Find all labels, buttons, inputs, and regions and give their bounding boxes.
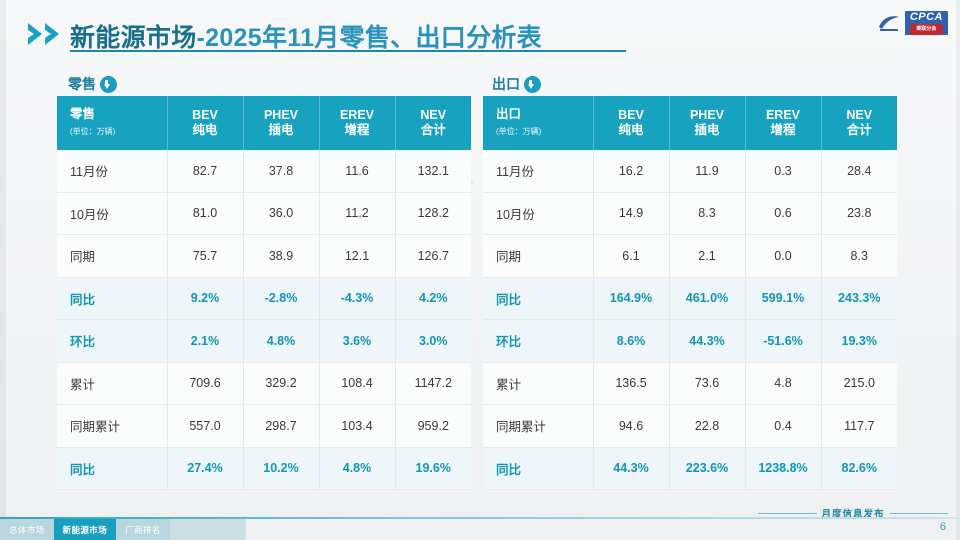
table-row: 环比2.1%4.8%3.6%3.0% [57,320,471,363]
retail-table-body: 11月份82.737.811.6132.110月份81.036.011.2128… [57,150,471,490]
export-cell: 1238.8% [745,447,821,490]
retail-cell: 1147.2 [395,362,471,405]
retail-col-phev: PHEV 插电 [243,96,319,150]
export-col-erev-label: EREV [766,108,800,122]
export-cell: 136.5 [593,362,669,405]
export-col-label-text: 出口 [496,107,521,121]
retail-col-label-text: 零售 [70,107,95,121]
export-cell: 164.9% [593,277,669,320]
export-cell: 117.7 [821,405,897,448]
retail-cell: 9.2% [167,277,243,320]
retail-cell: 329.2 [243,362,319,405]
table-row: 10月份81.036.011.2128.2 [57,192,471,235]
retail-col-bev-label: BEV [192,108,218,122]
footer-tab-spacer [170,519,246,540]
export-cell: 4.8 [745,362,821,405]
retail-row-label: 同比 [57,447,167,490]
retail-table: 零售 (单位：万辆) BEV 纯电 PHEV 插电 EREV 增程 NEV [57,96,471,490]
retail-cell: 4.2% [395,277,471,320]
page-title: 新能源市场-2025年11月零售、出口分析表 [70,18,542,54]
retail-col-erev: EREV 增程 [319,96,395,150]
export-cell: -51.6% [745,320,821,363]
retail-cell: 2.1% [167,320,243,363]
table-row: 同比9.2%-2.8%-4.3%4.2% [57,277,471,320]
export-row-label: 同比 [483,277,593,320]
retail-cell: 12.1 [319,235,395,278]
retail-cell: -2.8% [243,277,319,320]
retail-row-label: 10月份 [57,192,167,235]
retail-cell: 709.6 [167,362,243,405]
retail-col-erev-label: EREV [340,108,374,122]
export-col-nev-sub: 合计 [847,123,872,137]
table-row: 同比44.3%223.6%1238.8%82.6% [483,447,897,490]
retail-cell: 3.6% [319,320,395,363]
footer-rule-right [890,513,949,514]
retail-cell: 19.6% [395,447,471,490]
export-cell: 94.6 [593,405,669,448]
page-title-main: 新能源市场 [70,24,197,52]
export-cell: 599.1% [745,277,821,320]
export-cell: 0.0 [745,235,821,278]
export-col-nev: NEV 合计 [821,96,897,150]
retail-cell: 959.2 [395,405,471,448]
retail-cell: 298.7 [243,405,319,448]
cpca-logo: CPCA 乘联分会 [852,10,948,36]
page-title-sub: -2025年11月零售、出口分析表 [197,24,542,52]
export-row-label: 11月份 [483,150,593,192]
retail-cell: 126.7 [395,235,471,278]
export-row-label: 同期累计 [483,405,593,448]
cpca-wordmark-sub: 乘联分会 [910,24,943,35]
retail-col-bev: BEV 纯电 [167,96,243,150]
export-col-bev: BEV 纯电 [593,96,669,150]
retail-col-nev: NEV 合计 [395,96,471,150]
footer-rule-left [758,513,817,514]
section-caption-export: 出口 [492,74,541,94]
export-col-label: 出口 (单位：万辆) [483,96,593,150]
table-row: 11月份82.737.811.6132.1 [57,150,471,192]
export-cell: 22.8 [669,405,745,448]
table-row: 同期75.738.912.1126.7 [57,235,471,278]
retail-row-label: 11月份 [57,150,167,192]
retail-cell: 81.0 [167,192,243,235]
export-cell: 0.3 [745,150,821,192]
cpca-wordmark-text: CPCA [910,11,943,23]
retail-cell: 11.2 [319,192,395,235]
retail-cell: 4.8% [243,320,319,363]
retail-cell: 82.7 [167,150,243,192]
footer-tab-1[interactable]: 新能源市场 [54,519,117,540]
export-cell: 73.6 [669,362,745,405]
export-row-label: 同期 [483,235,593,278]
retail-cell: 38.9 [243,235,319,278]
retail-cell: 103.4 [319,405,395,448]
export-col-bev-label: BEV [618,108,644,122]
export-cell: 44.3% [669,320,745,363]
slide-canvas: 新能源市场-2025年11月零售、出口分析表 CPCA 乘联分会 乘联会 乘联会… [0,0,960,540]
export-cell: 243.3% [821,277,897,320]
export-col-unit: (单位：万辆) [496,124,593,139]
export-cell: 215.0 [821,362,897,405]
retail-col-label: 零售 (单位：万辆) [57,96,167,150]
circle-arrow-down-icon [524,76,541,93]
retail-cell: 108.4 [319,362,395,405]
cpca-wordmark: CPCA 乘联分会 [905,11,948,35]
retail-cell: 36.0 [243,192,319,235]
export-cell: 223.6% [669,447,745,490]
slide-header: 新能源市场-2025年11月零售、出口分析表 CPCA 乘联分会 [0,0,960,62]
export-cell: 28.4 [821,150,897,192]
export-table-body: 11月份16.211.90.328.410月份14.98.30.623.8同期6… [483,150,897,490]
table-row: 同期累计94.622.80.4117.7 [483,405,897,448]
section-caption-retail-label: 零售 [68,76,96,92]
export-cell: 461.0% [669,277,745,320]
export-col-phev: PHEV 插电 [669,96,745,150]
export-cell: 16.2 [593,150,669,192]
retail-cell: 3.0% [395,320,471,363]
double-chevron-right-icon [26,22,70,46]
table-row: 同比164.9%461.0%599.1%243.3% [483,277,897,320]
export-row-label: 同比 [483,447,593,490]
retail-cell: 4.8% [319,447,395,490]
footer-tab-2[interactable]: 厂商排名 [116,519,170,540]
export-col-phev-sub: 插电 [694,123,719,137]
retail-col-phev-sub: 插电 [268,123,293,137]
export-table-head: 出口 (单位：万辆) BEV 纯电 PHEV 插电 EREV 增程 NEV [483,96,897,150]
table-row: 累计709.6329.2108.41147.2 [57,362,471,405]
retail-col-erev-sub: 增程 [344,123,369,137]
table-row: 环比8.6%44.3%-51.6%19.3% [483,320,897,363]
retail-cell: 10.2% [243,447,319,490]
retail-col-phev-label: PHEV [264,108,298,122]
circle-arrow-down-icon [100,76,117,93]
export-row-label: 10月份 [483,192,593,235]
retail-row-label: 同期 [57,235,167,278]
retail-row-label: 累计 [57,362,167,405]
slide-left-edge [0,0,6,540]
retail-cell: 27.4% [167,447,243,490]
section-caption-export-label: 出口 [492,76,520,92]
export-header-row: 出口 (单位：万辆) BEV 纯电 PHEV 插电 EREV 增程 NEV [483,96,897,150]
export-table: 出口 (单位：万辆) BEV 纯电 PHEV 插电 EREV 增程 NEV [483,96,897,490]
retail-table-head: 零售 (单位：万辆) BEV 纯电 PHEV 插电 EREV 增程 NEV [57,96,471,150]
export-cell: 19.3% [821,320,897,363]
table-row: 10月份14.98.30.623.8 [483,192,897,235]
retail-col-unit: (单位：万辆) [70,124,167,139]
retail-col-bev-sub: 纯电 [192,123,217,137]
export-cell: 8.6% [593,320,669,363]
export-cell: 8.3 [821,235,897,278]
retail-row-label: 同期累计 [57,405,167,448]
export-col-erev: EREV 增程 [745,96,821,150]
table-row: 同比27.4%10.2%4.8%19.6% [57,447,471,490]
export-cell: 14.9 [593,192,669,235]
export-cell: 8.3 [669,192,745,235]
export-cell: 2.1 [669,235,745,278]
export-cell: 23.8 [821,192,897,235]
retail-row-label: 环比 [57,320,167,363]
footer-tab-bar: 总体市场新能源市场厂商排名 [0,519,246,540]
export-col-nev-label: NEV [846,108,872,122]
cpca-swoosh-icon [876,13,902,33]
footer-tab-0[interactable]: 总体市场 [0,519,54,540]
export-col-erev-sub: 增程 [770,123,795,137]
table-row: 同期6.12.10.08.3 [483,235,897,278]
retail-cell: 128.2 [395,192,471,235]
export-cell: 44.3% [593,447,669,490]
retail-row-label: 同比 [57,277,167,320]
export-cell: 6.1 [593,235,669,278]
retail-cell: 75.7 [167,235,243,278]
retail-col-nev-sub: 合计 [421,123,446,137]
export-col-phev-label: PHEV [690,108,724,122]
export-row-label: 累计 [483,362,593,405]
retail-cell: 11.6 [319,150,395,192]
title-underline [70,50,626,52]
retail-col-nev-label: NEV [420,108,446,122]
slide-right-edge [956,0,960,540]
page-number: 6 [940,521,946,533]
export-col-bev-sub: 纯电 [618,123,643,137]
export-cell: 11.9 [669,150,745,192]
retail-cell: 557.0 [167,405,243,448]
table-row: 11月份16.211.90.328.4 [483,150,897,192]
retail-cell: 132.1 [395,150,471,192]
retail-header-row: 零售 (单位：万辆) BEV 纯电 PHEV 插电 EREV 增程 NEV [57,96,471,150]
retail-cell: -4.3% [319,277,395,320]
section-caption-retail: 零售 [68,74,117,94]
table-row: 同期累计557.0298.7103.4959.2 [57,405,471,448]
export-cell: 0.4 [745,405,821,448]
retail-cell: 37.8 [243,150,319,192]
export-cell: 82.6% [821,447,897,490]
export-cell: 0.6 [745,192,821,235]
export-row-label: 环比 [483,320,593,363]
table-row: 累计136.573.64.8215.0 [483,362,897,405]
